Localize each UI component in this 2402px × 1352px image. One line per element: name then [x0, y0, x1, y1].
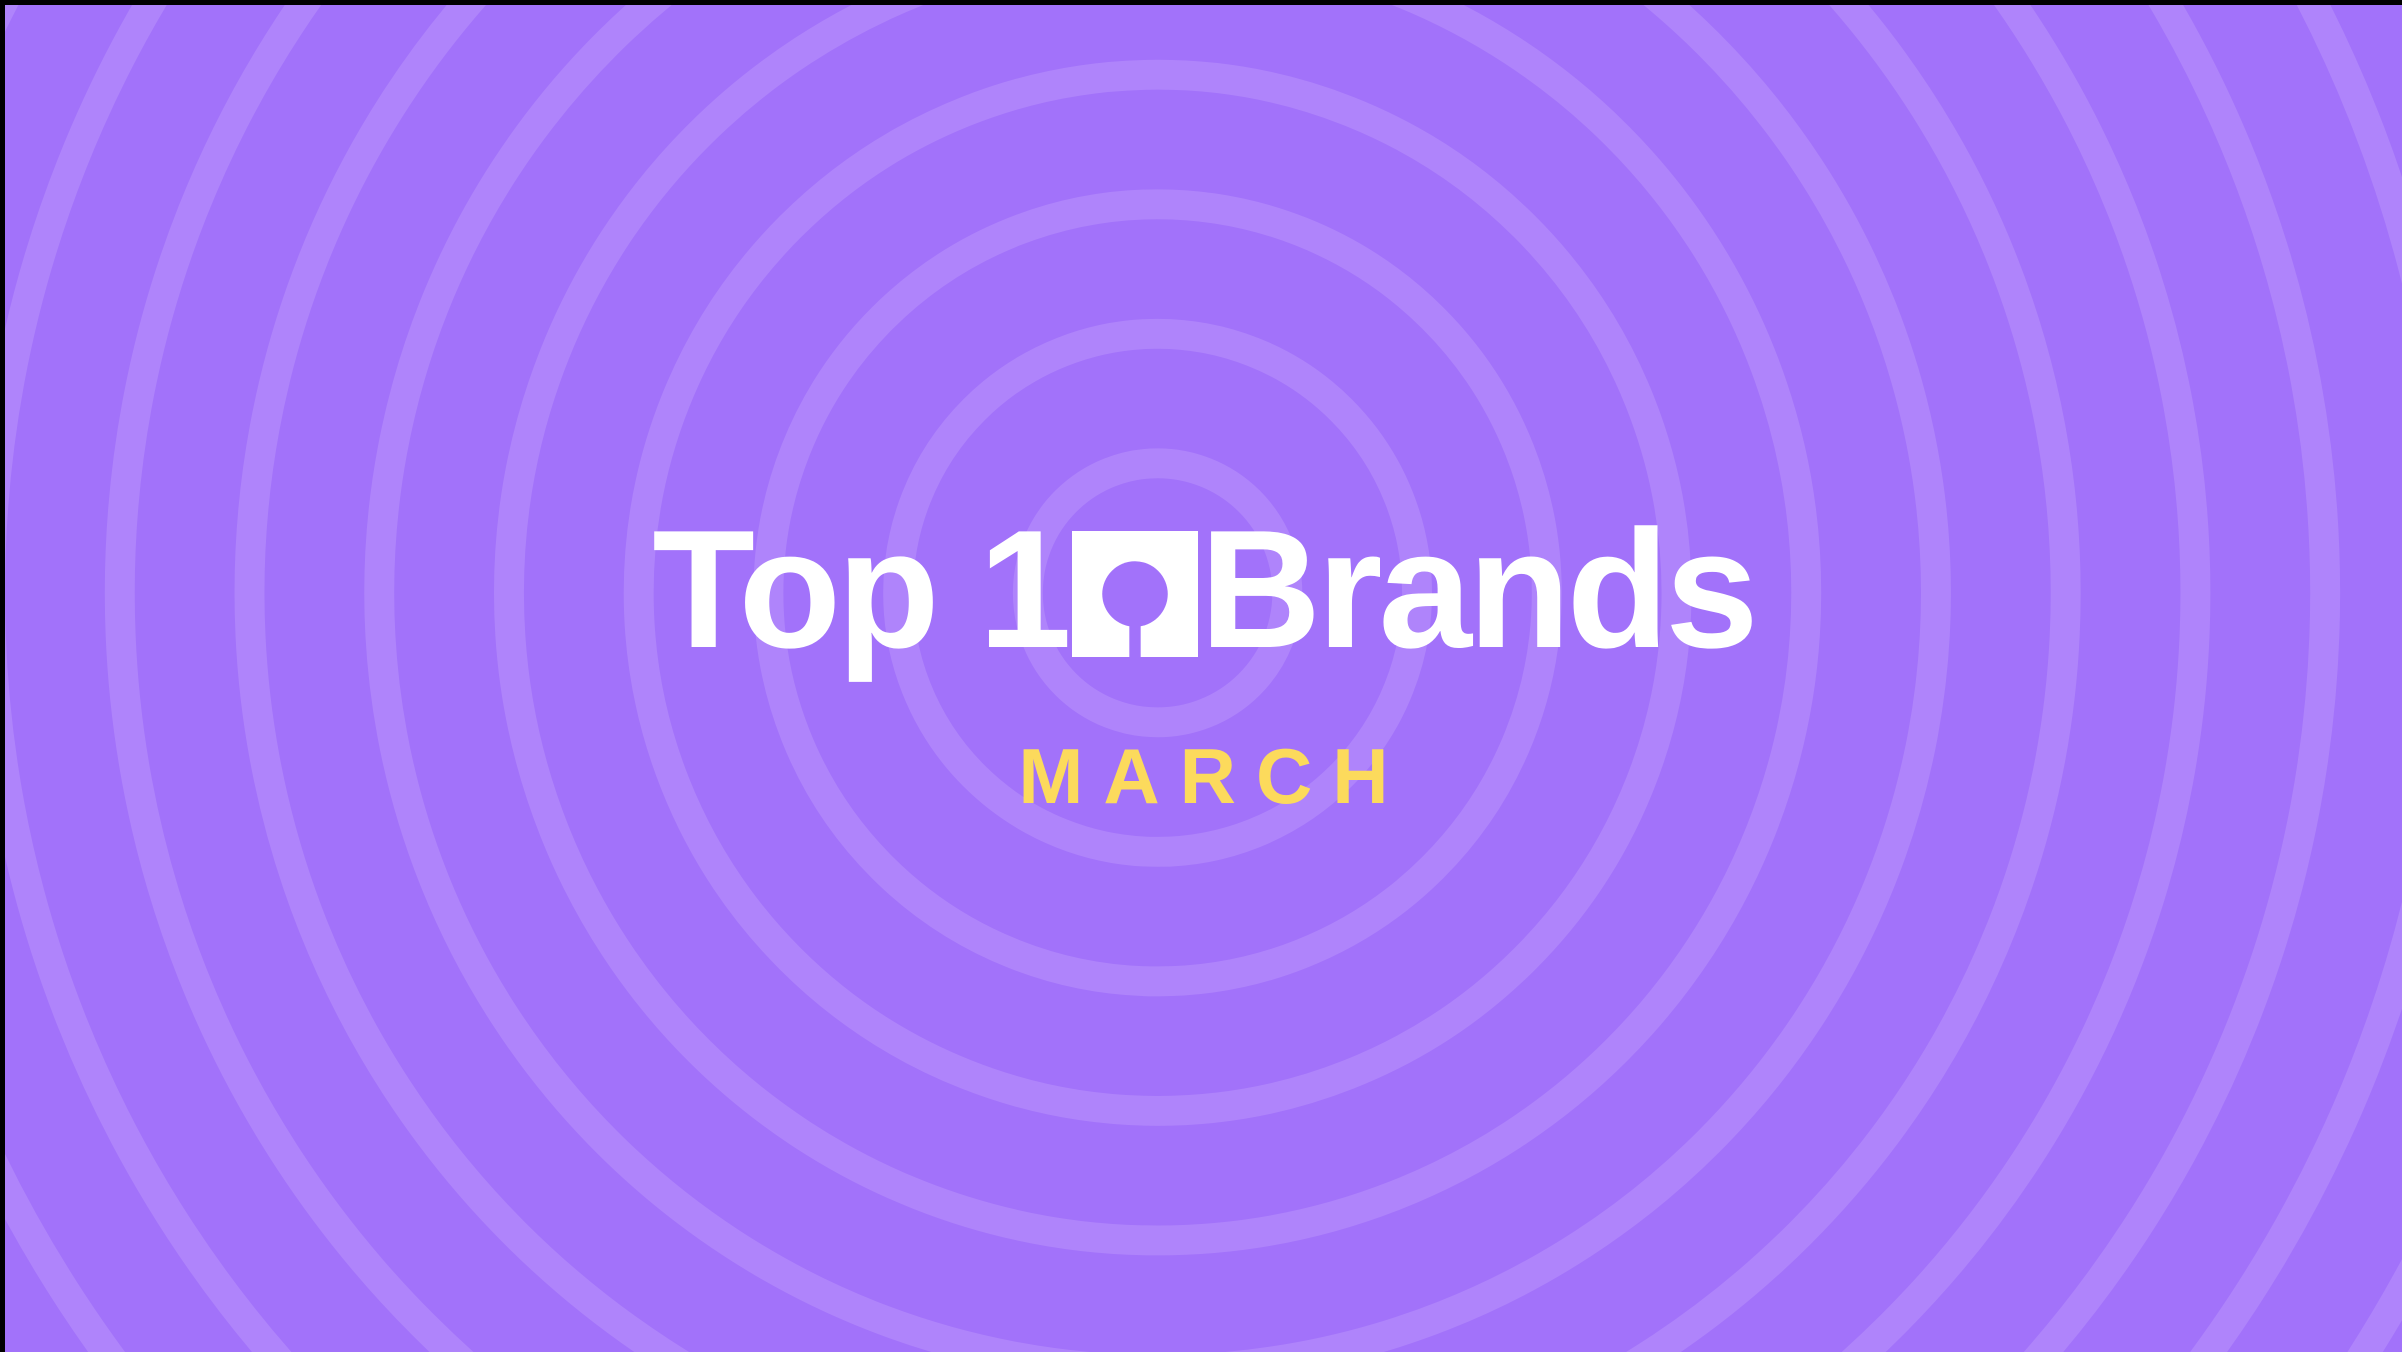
concentric-rings-background: [5, 5, 2402, 1352]
ring-group: [5, 5, 2402, 1352]
ring-2: [898, 334, 1417, 852]
ring-4: [639, 75, 1677, 1111]
ring-1: [1028, 463, 1287, 722]
ring-layer: [5, 5, 2402, 1352]
poster-canvas: Top 1: [0, 0, 2402, 1352]
